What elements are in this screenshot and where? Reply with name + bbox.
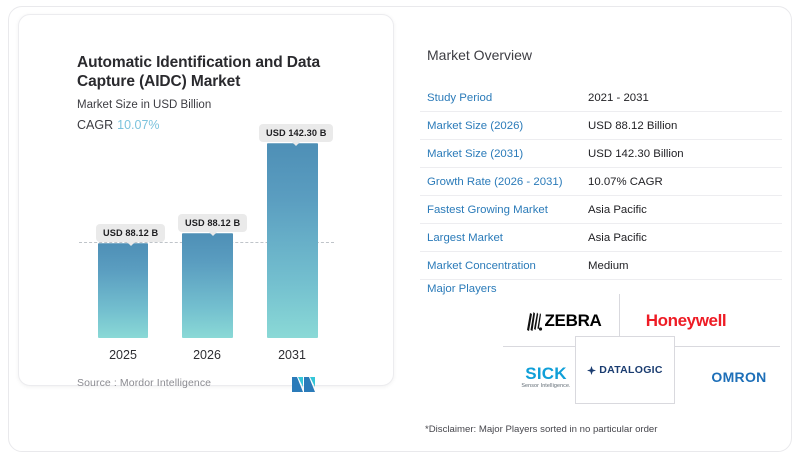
datalogic-wordmark: DATALOGIC [599,364,663,376]
table-row: Fastest Growing Market Asia Pacific [420,196,782,224]
table-row: Growth Rate (2026 - 2031) 10.07% CAGR [420,168,782,196]
x-axis-tick-2026: 2026 [177,348,237,362]
table-row: Market Size (2026) USD 88.12 Billion [420,112,782,140]
row-key: Study Period [420,92,588,104]
omron-wordmark: OMRON [711,369,766,385]
bar-chart-plot: USD 88.12 B USD 88.12 B USD 142.30 B 202… [19,15,395,387]
x-axis-tick-2031: 2031 [262,348,322,362]
bar-cap [98,243,148,244]
row-key: Market Size (2031) [420,148,588,160]
row-value: Asia Pacific [588,204,782,216]
row-value: Asia Pacific [588,232,782,244]
row-value: USD 88.12 Billion [588,120,782,132]
zebra-stripes-icon [524,310,544,332]
table-row: Market Size (2031) USD 142.30 Billion [420,140,782,168]
row-key: Largest Market [420,232,588,244]
row-value: 10.07% CAGR [588,176,782,188]
row-key: Fastest Growing Market [420,204,588,216]
x-axis-tick-2025: 2025 [93,348,153,362]
sick-wordmark: SICK [521,365,570,382]
bar-value-label-2025: USD 88.12 B [96,224,165,242]
bar-value-label-2026: USD 88.12 B [178,214,247,232]
row-value: 2021 - 2031 [588,92,782,104]
major-players-logo-grid: ZEBRA Honeywell SICK Sensor Intelligence… [503,294,780,404]
table-row: Study Period 2021 - 2031 [420,84,782,112]
bar-2025 [98,243,148,338]
zebra-wordmark: ZEBRA [544,311,601,331]
bar-value-label-2031: USD 142.30 B [259,124,333,142]
bar-2031 [267,143,318,338]
table-row: Largest Market Asia Pacific [420,224,782,252]
market-overview-title: Market Overview [427,47,532,63]
row-value: Medium [588,260,782,272]
player-logo-omron: OMRON [699,356,779,398]
row-value: USD 142.30 Billion [588,148,782,160]
bar-cap [182,233,233,234]
infographic-page: Automatic Identification and Data Captur… [0,0,800,459]
player-logo-datalogic: DATALOGIC [575,336,675,404]
mordor-intelligence-logo-icon [291,375,317,393]
row-key: Market Size (2026) [420,120,588,132]
bar-2026 [182,233,233,338]
chart-card: Automatic Identification and Data Captur… [18,14,394,386]
row-key: Growth Rate (2026 - 2031) [420,176,588,188]
datalogic-mark-icon [587,366,596,375]
table-row: Market Concentration Medium [420,252,782,280]
source-caption: Source : Mordor Intelligence [77,377,211,389]
row-key: Market Concentration [420,260,588,272]
honeywell-wordmark: Honeywell [646,311,726,331]
major-players-label: Major Players [427,283,497,295]
sick-tagline: Sensor Intelligence. [521,384,570,389]
disclaimer-text: *Disclaimer: Major Players sorted in no … [425,424,657,435]
market-overview-table: Study Period 2021 - 2031 Market Size (20… [420,84,782,280]
